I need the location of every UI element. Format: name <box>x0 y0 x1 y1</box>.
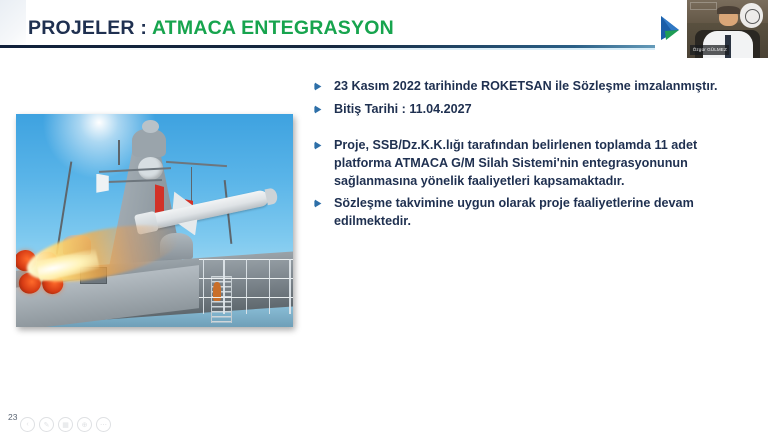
organization-logo <box>655 0 687 58</box>
bullet-item: 23 Kasım 2022 tarihinde ROKETSAN ile Söz… <box>314 78 750 96</box>
zoom-button[interactable]: ⊕ <box>77 417 92 432</box>
more-options-button[interactable]: ⋯ <box>96 417 111 432</box>
bullet-text: 23 Kasım 2022 tarihinde ROKETSAN ile Söz… <box>334 78 750 96</box>
presenter-controls-bar: 23 ‹ ✎ ▦ ⊕ ⋯ <box>0 406 768 434</box>
bullet-arrow-icon <box>314 199 327 208</box>
bullet-item: Bitiş Tarihi : 11.04.2027 <box>314 101 750 119</box>
photo-antenna <box>118 140 120 166</box>
all-slides-button[interactable]: ▦ <box>58 417 73 432</box>
previous-slide-glyph: ‹ <box>26 421 28 428</box>
bullet-text: Bitiş Tarihi : 11.04.2027 <box>334 101 750 119</box>
bullet-arrow-icon <box>314 82 327 91</box>
photo-signal-flag <box>96 174 108 193</box>
photo-deck-railing <box>199 259 293 314</box>
presenter-control-buttons[interactable]: ‹ ✎ ▦ ⊕ ⋯ <box>20 417 111 432</box>
page-title: PROJELER : ATMACA ENTEGRASYON <box>28 14 394 42</box>
video-watermark-ring <box>745 9 760 24</box>
previous-slide-button[interactable]: ‹ <box>20 417 35 432</box>
pointer-tool-button[interactable]: ✎ <box>39 417 54 432</box>
bullet-group: Proje, SSB/Dz.K.K.lığı tarafından belirl… <box>314 137 750 231</box>
title-main-text: PROJELER : <box>28 17 147 39</box>
more-options-glyph: ⋯ <box>100 421 107 429</box>
presentation-slide: PROJELER : ATMACA ENTEGRASYON <box>0 0 768 434</box>
photo-missile-nose <box>264 187 279 205</box>
photo-sky <box>16 114 293 327</box>
slide-number: 23 <box>8 412 17 422</box>
bullet-text: Sözleşme takvimine uygun olarak proje fa… <box>334 195 750 231</box>
bullet-item: Proje, SSB/Dz.K.K.lığı tarafından belirl… <box>314 137 750 191</box>
title-accent-text: ATMACA ENTEGRASYON <box>152 17 394 39</box>
slide-body-content: 23 Kasım 2022 tarihinde ROKETSAN ile Söz… <box>314 78 750 249</box>
bullet-text: Proje, SSB/Dz.K.K.lığı tarafından belirl… <box>334 137 750 191</box>
participant-video-feed[interactable]: Özgür GÜLMEZ <box>687 0 768 58</box>
bullet-arrow-icon <box>314 105 327 114</box>
missile-launch-photo <box>16 114 293 327</box>
participant-video-overlay[interactable]: Özgür GÜLMEZ <box>655 0 768 58</box>
video-watermark-badge <box>740 3 763 27</box>
participant-name-label: Özgür GÜLMEZ <box>690 45 729 54</box>
title-divider-highlight <box>0 48 736 50</box>
pointer-tool-glyph: ✎ <box>44 421 50 429</box>
triangle-logo-icon <box>659 14 683 44</box>
bullet-arrow-icon <box>314 141 327 150</box>
photo-antenna <box>191 167 193 201</box>
photo-mast-dome <box>142 120 159 133</box>
all-slides-glyph: ▦ <box>62 421 69 429</box>
video-person-hair <box>717 6 740 14</box>
photo-mast-top <box>132 129 165 157</box>
bullet-group: 23 Kasım 2022 tarihinde ROKETSAN ile Söz… <box>314 78 750 119</box>
photo-yardarm <box>166 161 227 167</box>
slide-title-block: PROJELER : ATMACA ENTEGRASYON <box>0 14 640 44</box>
video-wall-frame <box>690 2 716 10</box>
bullet-item: Sözleşme takvimine uygun olarak proje fa… <box>314 195 750 231</box>
photo-missile-fin <box>169 189 193 211</box>
zoom-glyph: ⊕ <box>82 421 88 429</box>
